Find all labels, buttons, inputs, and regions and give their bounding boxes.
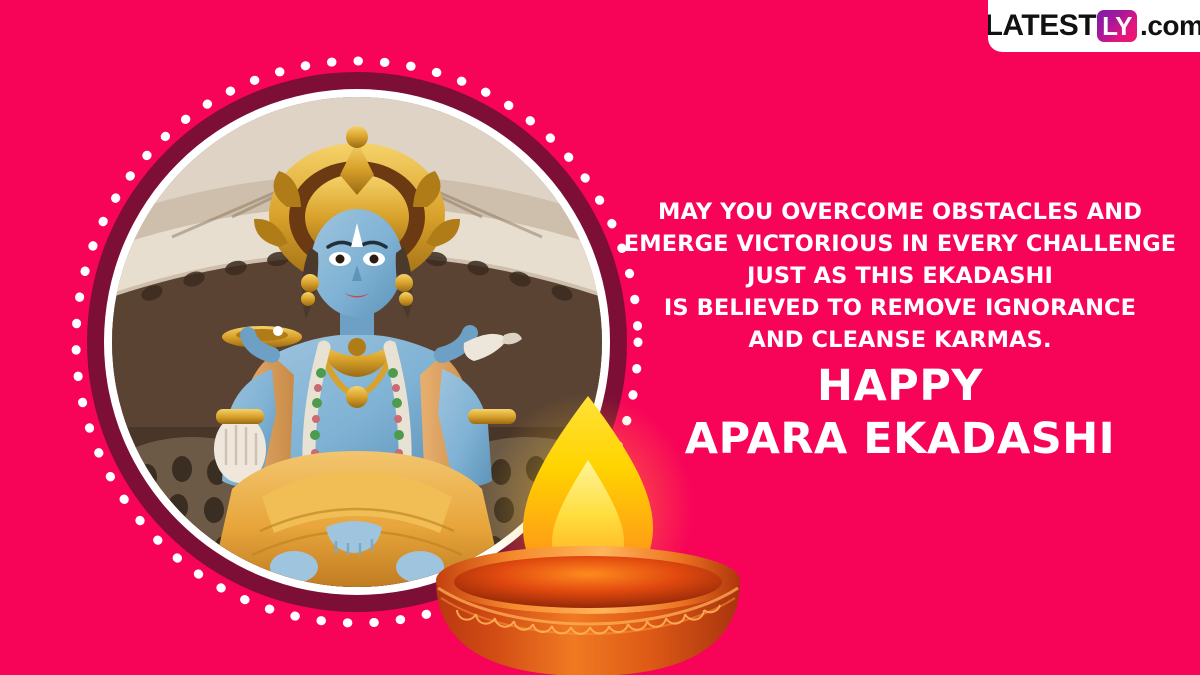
logo-inner: LATEST LY .com [988,10,1200,42]
headline-happy: HAPPY [610,360,1190,412]
greeting-text-block: MAY YOU OVERCOME OBSTACLES AND EMERGE VI… [610,196,1190,466]
message-line-5: AND CLEANSE KARMAS. [610,324,1190,356]
message-line-1: MAY YOU OVERCOME OBSTACLES AND [610,196,1190,228]
logo-text-latest: LATEST [988,11,1096,41]
message-line-2: EMERGE VICTORIOUS IN EVERY CHALLENGE [610,228,1190,260]
message-line-4: IS BELIEVED TO REMOVE IGNORANCE [610,292,1190,324]
logo-text-com: .com [1140,12,1200,40]
message-line-3: JUST AS THIS EKADASHI [610,260,1190,292]
diya-oil [454,556,722,608]
latestly-logo[interactable]: LATEST LY .com [988,0,1200,52]
logo-badge-ly: LY [1097,10,1137,42]
headline-festival-name: APARA EKADASHI [610,412,1190,466]
